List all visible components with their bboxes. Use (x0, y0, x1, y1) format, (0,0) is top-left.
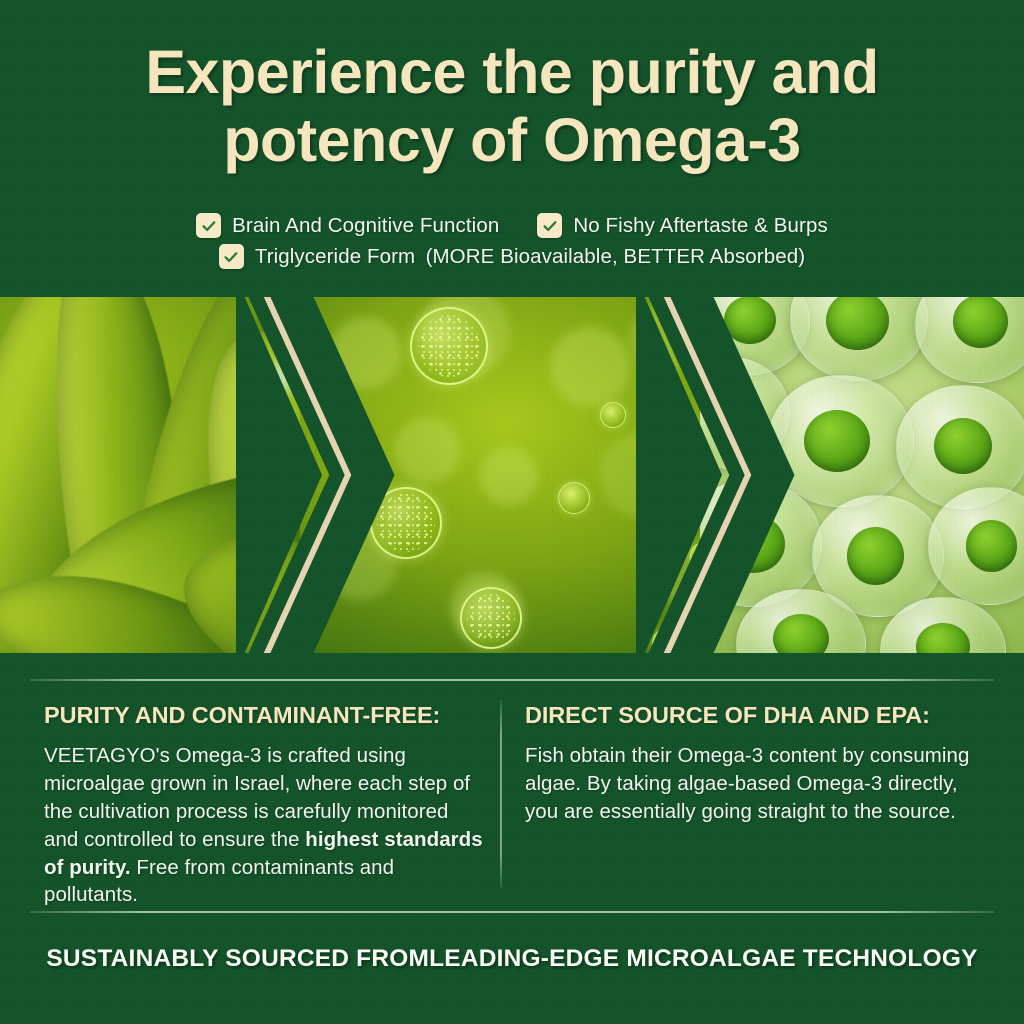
column-body-before: Fish obtain their Omega-3 content by con… (525, 744, 969, 823)
microalgae-bokeh-photo (300, 297, 760, 653)
benefit-item: No Fishy Aftertaste & Burps (537, 213, 828, 238)
header-section: Experience the purity and potency of Ome… (0, 0, 1024, 297)
headline-line-1: Experience the purity and (48, 38, 976, 106)
benefit-label: Brain And Cognitive Function (232, 214, 499, 238)
checkmark-icon (537, 213, 562, 238)
column-heading: DIRECT SOURCE OF DHA AND EPA: (525, 702, 975, 729)
page-title: Experience the purity and potency of Ome… (0, 38, 1024, 175)
image-strip (0, 297, 1024, 653)
benefits-row-1: Brain And Cognitive Function No Fishy Af… (0, 213, 1024, 238)
divider-top (30, 679, 994, 681)
benefit-label: Triglyceride Form (MORE Bioavailable, BE… (255, 245, 805, 269)
infographic-page: Experience the purity and potency of Ome… (0, 0, 1024, 1024)
benefit-item: Triglyceride Form (MORE Bioavailable, BE… (219, 244, 805, 269)
checkmark-icon (196, 213, 221, 238)
column-body: Fish obtain their Omega-3 content by con… (525, 742, 975, 826)
column-heading: PURITY AND CONTAMINANT-FREE: (44, 702, 484, 729)
checkmark-icon (219, 244, 244, 269)
footer-banner: SUSTAINABLY SOURCED FROMLEADING-EDGE MIC… (0, 945, 1024, 973)
benefit-item: Brain And Cognitive Function (196, 213, 499, 238)
headline-line-2: potency of Omega-3 (48, 106, 976, 174)
benefits-row-2: Triglyceride Form (MORE Bioavailable, BE… (0, 244, 1024, 269)
benefits-list: Brain And Cognitive Function No Fishy Af… (0, 213, 1024, 275)
column-divider (500, 700, 502, 888)
column-purity: PURITY AND CONTAMINANT-FREE: VEETAGYO's … (44, 702, 484, 909)
column-dha-epa: DIRECT SOURCE OF DHA AND EPA: Fish obtai… (525, 702, 975, 826)
column-body: VEETAGYO's Omega-3 is crafted using micr… (44, 742, 484, 909)
algae-cells-photo (700, 297, 1024, 653)
divider-bottom (30, 911, 994, 913)
benefit-label: No Fishy Aftertaste & Burps (573, 214, 828, 238)
